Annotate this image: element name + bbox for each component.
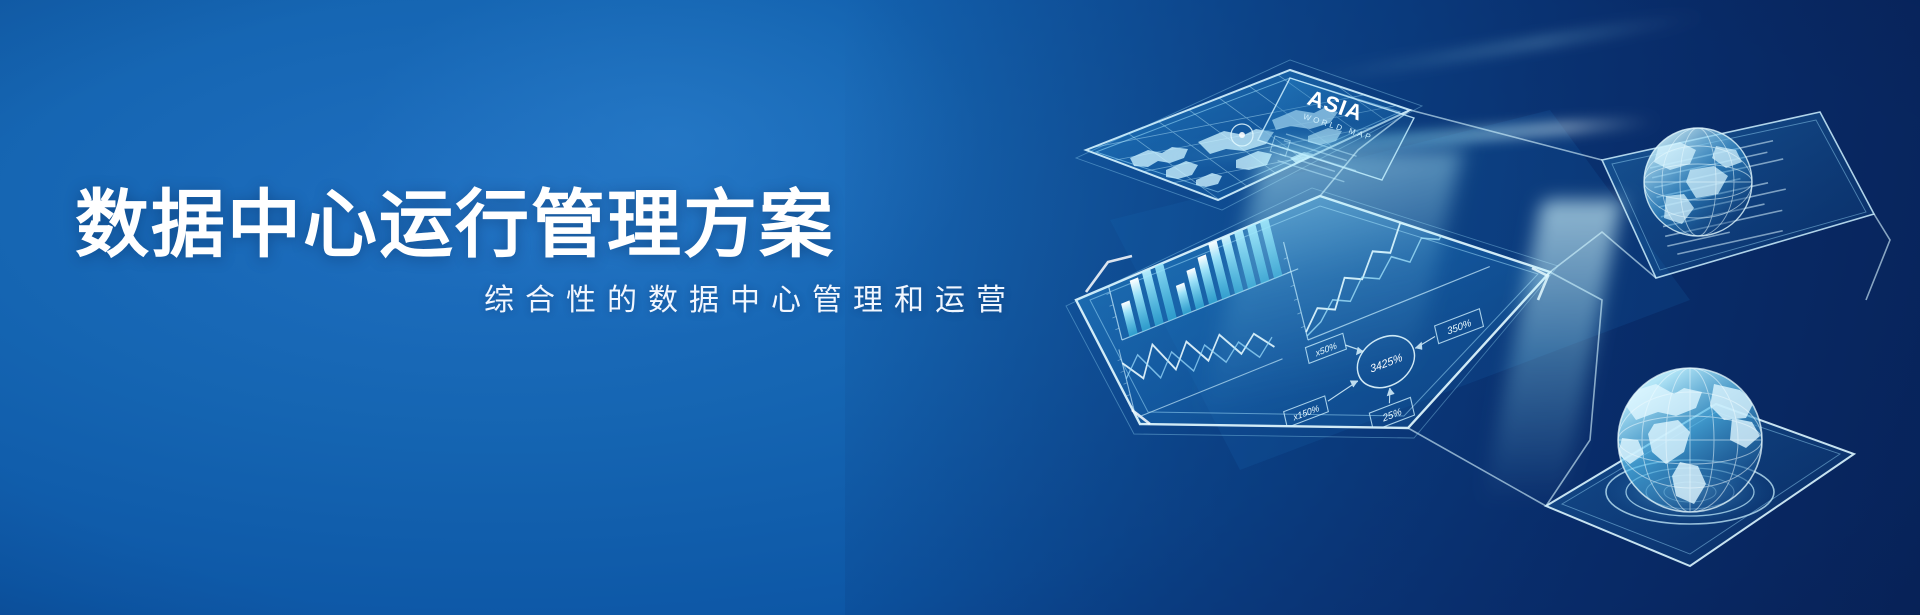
data-center-hologram-illustration: ASIA WORLD MAP [990,0,1920,615]
page-title: 数据中心运行管理方案 [75,185,1035,265]
page-subtitle: 综合性的数据中心管理和运营 [75,283,1035,319]
small-globe [1644,128,1752,236]
map-target-dot [1239,132,1245,138]
banner-copy: 数据中心运行管理方案 综合性的数据中心管理和运营 [75,185,1035,319]
main-globe [1618,368,1762,512]
hologram-artwork-svg: ASIA WORLD MAP [990,0,1920,615]
hero-banner: ASIA WORLD MAP [0,0,1920,615]
